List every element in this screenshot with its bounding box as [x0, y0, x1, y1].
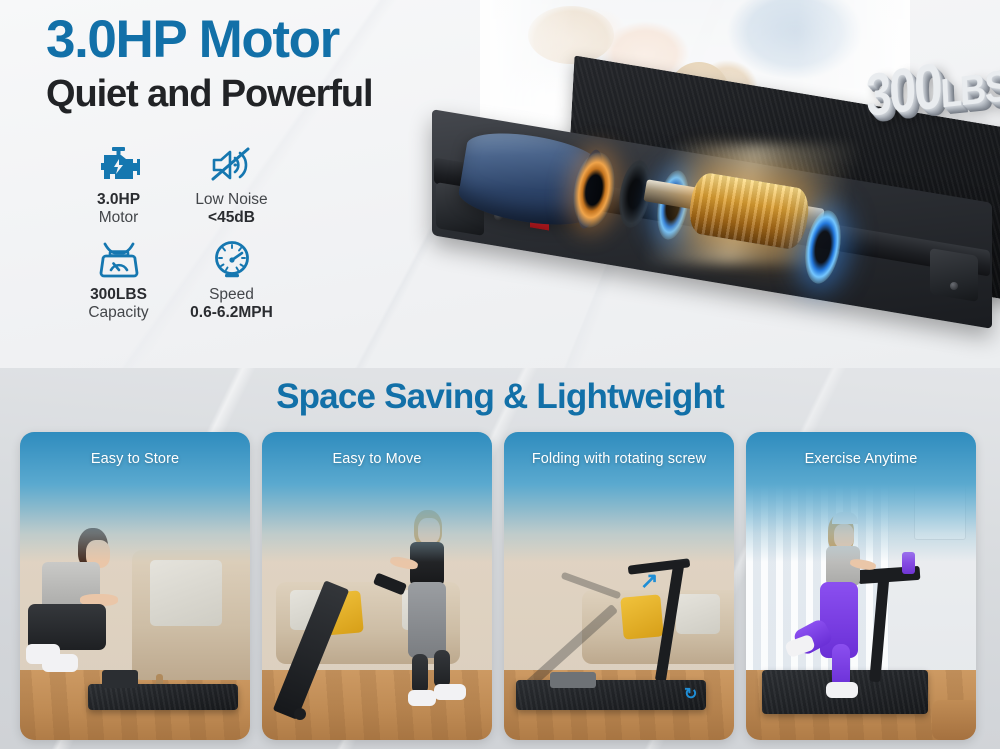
treadmill-deck	[422, 96, 1000, 346]
feature-label-secondary: 0.6-6.2MPH	[190, 304, 273, 322]
hero-product-image: 300LBS	[400, 0, 1000, 368]
feature-label-secondary: Motor	[99, 209, 139, 227]
feature-item-motor: 3.0HP Motor	[62, 138, 175, 233]
panel-caption: Exercise Anytime	[746, 432, 976, 467]
motor-cutaway	[462, 118, 882, 298]
feature-label-primary: Low Noise	[195, 191, 267, 209]
panel-caption: Folding with rotating screw	[504, 432, 734, 467]
feature-item-capacity: 300LBS Capacity	[62, 233, 175, 328]
badge-unit: LBS	[940, 61, 1000, 117]
feature-label-primary: 3.0HP	[97, 191, 140, 209]
side-table	[932, 700, 976, 740]
treadmill-foot-right	[930, 248, 978, 302]
panel-easy-to-store[interactable]: Easy to Store	[20, 432, 250, 740]
panel-easy-to-move[interactable]: Easy to Move	[262, 432, 492, 740]
sofa-cushion-right	[676, 594, 720, 634]
treadmill-console-panel	[550, 672, 596, 688]
feature-label-secondary: <45dB	[208, 209, 255, 227]
panel-folding-screw[interactable]: ↗ ↻ Folding with rotating screw	[504, 432, 734, 740]
panel-caption: Easy to Store	[20, 432, 250, 467]
feature-label-primary: Speed	[209, 286, 254, 304]
rotation-arrow-top: ↗	[640, 568, 658, 594]
hero-section: 3.0HP Motor Quiet and Powerful 3.0HP Mot…	[0, 0, 1000, 368]
mute-speaker-icon	[210, 138, 254, 184]
sofa-cushion	[150, 560, 222, 626]
treadmill-wheel	[294, 708, 306, 720]
feature-label-primary: 300LBS	[90, 286, 147, 304]
lower-section: Space Saving & Lightweight	[0, 368, 1000, 749]
walking-pad-handle	[102, 670, 138, 688]
panel-caption: Easy to Move	[262, 432, 492, 467]
speedometer-icon	[210, 233, 254, 279]
feature-grid: 3.0HP Motor Low Noise <45dB	[62, 138, 288, 328]
rotation-arrow-bottom: ↻	[684, 684, 697, 704]
feature-label-secondary: Capacity	[88, 304, 148, 322]
frame-screw	[950, 282, 958, 290]
hero-title-line2: Quiet and Powerful	[46, 75, 372, 113]
panel-exercise-anytime[interactable]: Exercise Anytime	[746, 432, 976, 740]
hero-title-line1: 3.0HP Motor	[46, 13, 372, 66]
badge-number: 300	[865, 49, 942, 128]
engine-motor-icon	[98, 138, 140, 184]
sofa-cushion-yellow	[620, 594, 664, 639]
hero-title-block: 3.0HP Motor Quiet and Powerful	[46, 13, 372, 113]
weight-scale-icon	[97, 233, 141, 279]
product-infographic: 3.0HP Motor Quiet and Powerful 3.0HP Mot…	[0, 0, 1000, 749]
section-heading: Space Saving & Lightweight	[0, 377, 1000, 417]
treadmill-base-deck	[516, 680, 706, 710]
feature-item-noise: Low Noise <45dB	[175, 138, 288, 233]
feature-item-speed: Speed 0.6-6.2MPH	[175, 233, 288, 328]
copper-rotor	[686, 171, 813, 252]
feature-panel-row: Easy to Store	[20, 432, 976, 740]
